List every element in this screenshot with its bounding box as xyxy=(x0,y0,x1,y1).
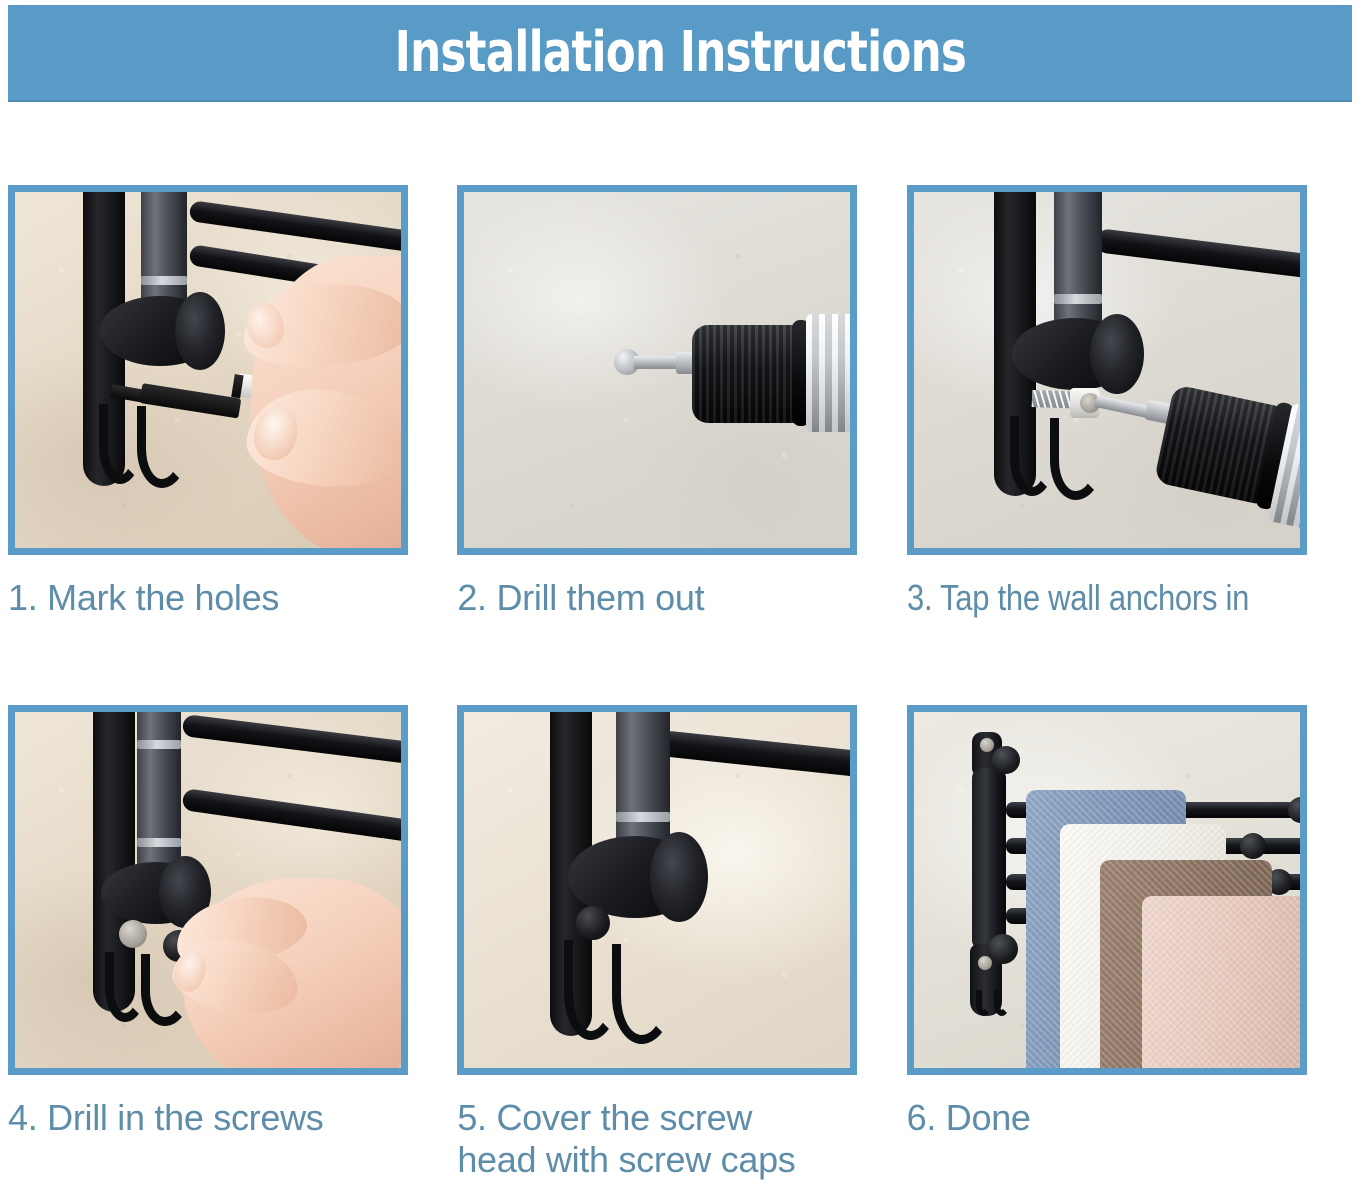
step-photo-1: 记号笔 YOUR CHOICE IS PROFESSIONAL xyxy=(8,185,408,555)
photo-cover-screw-head xyxy=(464,712,850,1068)
rack-screw-bottom xyxy=(978,956,992,970)
step-card-2: 2. Drill them out xyxy=(457,185,906,705)
steps-grid: 记号笔 YOUR CHOICE IS PROFESSIONAL 1. Mark … xyxy=(8,185,1356,1191)
step-photo-3 xyxy=(907,185,1307,555)
installed-screw-head xyxy=(119,920,147,948)
step-caption-6: 6. Done xyxy=(907,1097,1356,1139)
rack-hook-right xyxy=(994,990,1010,1016)
swivel-hub-top xyxy=(992,746,1020,774)
header-banner: Installation Instructions xyxy=(8,5,1352,102)
drill-chuck xyxy=(692,325,802,423)
rack-hook-left xyxy=(976,990,992,1016)
post-ring-top xyxy=(137,740,181,749)
post-ring xyxy=(616,812,670,822)
rack-column xyxy=(972,768,1006,950)
step-photo-6 xyxy=(907,705,1307,1075)
page-title: Installation Instructions xyxy=(394,20,966,85)
double-hook-rear xyxy=(1050,418,1104,500)
step-card-3: 3. Tap the wall anchors in xyxy=(907,185,1356,705)
step-caption-3: 3. Tap the wall anchors in xyxy=(907,577,1293,619)
step-caption-2: 2. Drill them out xyxy=(457,577,906,619)
step-photo-5 xyxy=(457,705,857,1075)
step-caption-1: 1. Mark the holes xyxy=(8,577,457,619)
photo-drill-them-out xyxy=(464,192,850,548)
post-ring xyxy=(1054,294,1102,304)
photo-mark-the-holes: 记号笔 YOUR CHOICE IS PROFESSIONAL xyxy=(15,192,401,548)
step-card-1: 记号笔 YOUR CHOICE IS PROFESSIONAL 1. Mark … xyxy=(8,185,457,705)
photo-drill-in-screws xyxy=(15,712,401,1068)
drill-barrel xyxy=(806,314,850,432)
knuckle-end-cap xyxy=(650,832,708,922)
swivel-post xyxy=(616,712,670,844)
drill-bit-shank xyxy=(634,356,682,369)
post-ring-bottom xyxy=(137,838,181,847)
step-card-6: 6. Done xyxy=(907,705,1356,1191)
step-card-5: 5. Cover the screw head with screw caps xyxy=(457,705,906,1191)
swivel-post xyxy=(1054,192,1102,326)
post-ring xyxy=(141,276,187,285)
step-photo-2 xyxy=(457,185,857,555)
steps-row-2: 4. Drill in the screws xyxy=(8,705,1356,1191)
rack-screw-top xyxy=(980,738,994,752)
photo-tap-wall-anchors xyxy=(914,192,1300,548)
swivel-hub-bottom xyxy=(988,934,1018,964)
steps-row-1: 记号笔 YOUR CHOICE IS PROFESSIONAL 1. Mark … xyxy=(8,185,1356,705)
double-hook-front xyxy=(1010,416,1056,496)
photo-done xyxy=(914,712,1300,1068)
step-card-4: 4. Drill in the screws xyxy=(8,705,457,1191)
knuckle-end-cap xyxy=(1090,314,1144,394)
step-photo-4 xyxy=(8,705,408,1075)
step-caption-4: 4. Drill in the screws xyxy=(8,1097,457,1139)
swivel-arm-2-end xyxy=(1240,833,1266,859)
step-caption-5: 5. Cover the screw head with screw caps xyxy=(457,1097,906,1182)
swivel-post xyxy=(141,192,187,306)
towel-pink xyxy=(1142,896,1300,1068)
knuckle-end-cap xyxy=(175,292,225,370)
